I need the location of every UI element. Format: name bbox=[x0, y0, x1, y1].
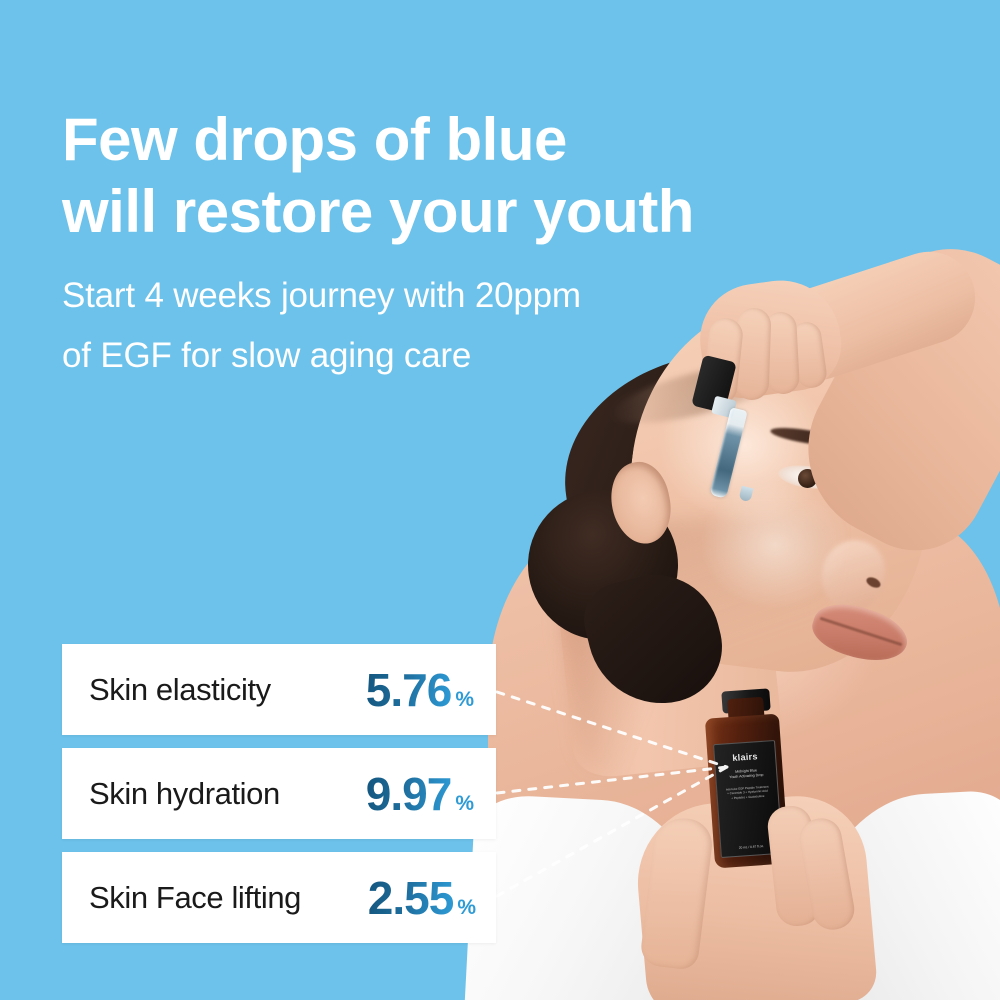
headline-line-2: will restore your youth bbox=[62, 176, 782, 248]
ad-creative: klairs Midnight Blue Youth Activating Dr… bbox=[0, 0, 1000, 1000]
product-name: Midnight Blue Youth Activating Drop bbox=[716, 767, 777, 782]
product-name-line2: Youth Activating Drop bbox=[729, 773, 763, 779]
stat-label: Skin Face lifting bbox=[62, 880, 301, 916]
stat-unit: % bbox=[457, 896, 476, 920]
subheadline: Start 4 weeks journey with 20ppm of EGF … bbox=[62, 266, 722, 386]
product-claims: Intensive EGF Peptide Treatment + Cerami… bbox=[717, 784, 778, 801]
stat-value: 9.97 bbox=[366, 767, 452, 821]
product-claims-line2: + Peptides + Guaiazulene bbox=[731, 793, 764, 799]
page-title: Few drops of blue will restore your yout… bbox=[62, 104, 782, 248]
stat-value-group: 9.97 % bbox=[366, 767, 496, 821]
stat-unit: % bbox=[455, 792, 474, 816]
stat-value: 2.55 bbox=[368, 871, 454, 925]
subheadline-line-1: Start 4 weeks journey with 20ppm bbox=[62, 266, 722, 326]
stat-label: Skin hydration bbox=[62, 776, 280, 812]
stats-list: Skin elasticity 5.76 % Skin hydration 9.… bbox=[62, 644, 496, 943]
stat-label: Skin elasticity bbox=[62, 672, 271, 708]
stat-value-group: 5.76 % bbox=[366, 663, 496, 717]
subheadline-line-2: of EGF for slow aging care bbox=[62, 326, 722, 386]
stat-card-skin-hydration: Skin hydration 9.97 % bbox=[62, 748, 496, 839]
stat-value-group: 2.55 % bbox=[368, 871, 496, 925]
brand-logo: klairs bbox=[715, 751, 775, 764]
headline-line-1: Few drops of blue bbox=[62, 104, 782, 176]
stat-value: 5.76 bbox=[366, 663, 452, 717]
stat-card-skin-elasticity: Skin elasticity 5.76 % bbox=[62, 644, 496, 735]
stat-unit: % bbox=[455, 688, 474, 712]
stat-card-skin-face-lifting: Skin Face lifting 2.55 % bbox=[62, 852, 496, 943]
